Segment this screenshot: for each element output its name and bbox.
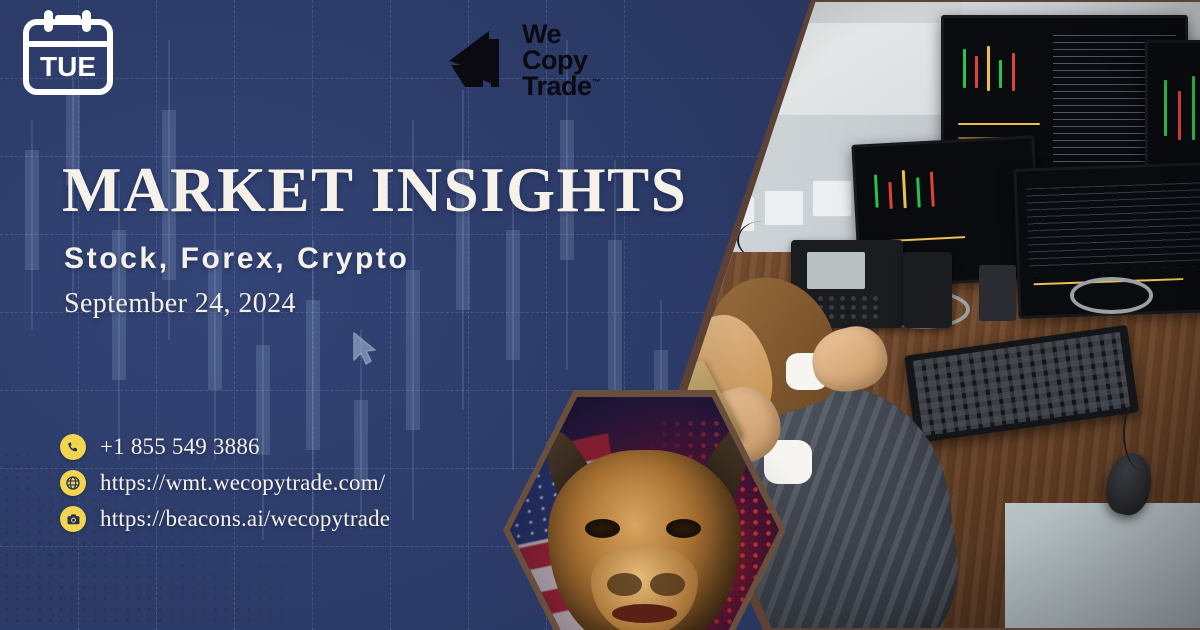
calendar-icon: TUE [18, 8, 118, 100]
bull-market-hexagon [503, 390, 786, 630]
headline-block: MARKET INSIGHTS Stock, Forex, Crypto Sep… [62, 158, 687, 320]
arrow-logo-mark-icon [443, 25, 513, 95]
contact-row-phone[interactable]: +1 855 549 3886 [60, 434, 390, 460]
logo-line-3-wrap: Trade™ [522, 73, 600, 99]
market-insights-banner: TUE We Copy Trade™ MARKET INSIGHTS Stock… [0, 0, 1200, 630]
calendar-day-label: TUE [40, 51, 96, 82]
logo-line-2: Copy [522, 47, 600, 73]
publish-date: September 24, 2024 [64, 288, 687, 320]
contact-phone-text: +1 855 549 3886 [100, 434, 260, 460]
cursor-arrow-icon [352, 332, 378, 366]
contact-website-text: https://wmt.wecopytrade.com/ [100, 470, 385, 496]
logo-wordmark: We Copy Trade™ [522, 21, 600, 100]
page-title: MARKET INSIGHTS [62, 158, 687, 224]
contact-list: +1 855 549 3886 https://wmt.wecopytrade.… [60, 434, 390, 532]
page-subtitle: Stock, Forex, Crypto [64, 242, 687, 276]
logo-line-1: We [522, 21, 600, 47]
contact-row-website[interactable]: https://wmt.wecopytrade.com/ [60, 470, 390, 496]
contact-row-social[interactable]: https://beacons.ai/wecopytrade [60, 506, 390, 532]
globe-icon [60, 470, 86, 496]
logo-trademark: ™ [592, 77, 601, 87]
brand-logo[interactable]: We Copy Trade™ [443, 14, 618, 106]
phone-icon [60, 434, 86, 460]
camera-icon [60, 506, 86, 532]
contact-social-text: https://beacons.ai/wecopytrade [100, 506, 390, 532]
logo-line-3: Trade [522, 71, 592, 101]
